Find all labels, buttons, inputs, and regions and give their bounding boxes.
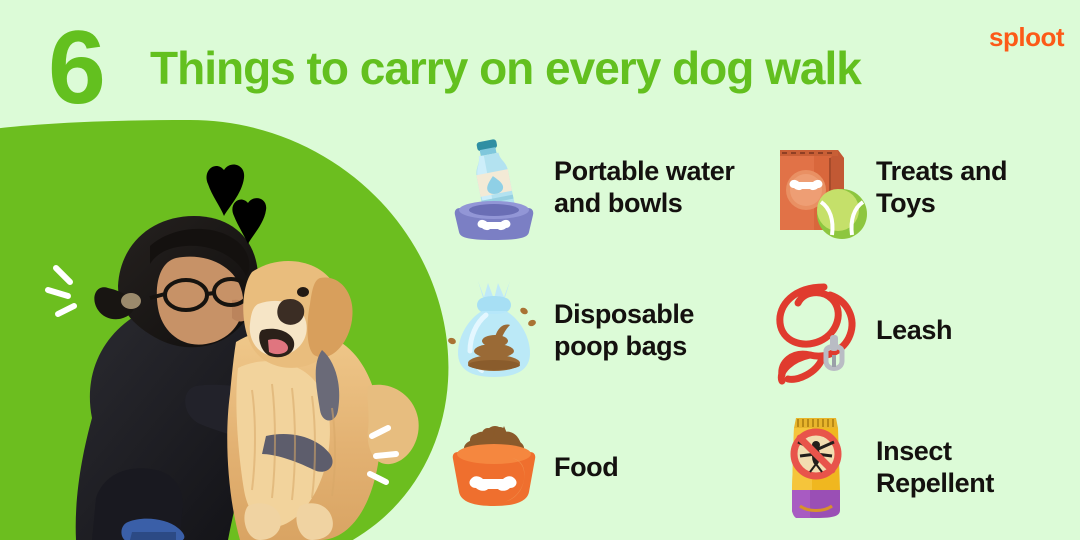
item-disposable-poop-bags[interactable]: Disposable poop bags (442, 272, 772, 388)
item-portable-water-and-bowls[interactable]: Portable water and bowls (442, 128, 772, 246)
item-insect-repellent[interactable]: Insect Repellent (764, 412, 1080, 522)
sploot-logo: sploot (989, 24, 1064, 50)
item-label: Food (554, 451, 618, 483)
page-title: Things to carry on every dog walk (150, 42, 861, 94)
photo-woman-and-dog (0, 118, 452, 540)
poop-bag-icon (442, 275, 546, 385)
item-treats-and-toys[interactable]: Treats and Toys (764, 128, 1080, 246)
item-label: Disposable poop bags (554, 298, 694, 362)
item-label: Portable water and bowls (554, 155, 734, 219)
headline-number: 6 (48, 16, 104, 120)
header: 6 Things to carry on every dog walk splo… (0, 0, 1080, 120)
leash-icon (764, 275, 868, 385)
item-label: Insect Repellent (876, 435, 994, 499)
item-label: Leash (876, 314, 952, 346)
item-food[interactable]: Food (442, 412, 772, 522)
item-label: Treats and Toys (876, 155, 1007, 219)
hero-image-area (0, 118, 452, 540)
infographic-canvas: 6 Things to carry on every dog walk splo… (0, 0, 1080, 540)
item-leash[interactable]: Leash (764, 272, 1080, 388)
treat-bag-and-tennis-ball-icon (764, 132, 868, 242)
water-bottle-and-bowl-icon (442, 132, 546, 242)
insect-repellent-tube-icon (764, 412, 868, 522)
food-bowl-icon (442, 412, 546, 522)
